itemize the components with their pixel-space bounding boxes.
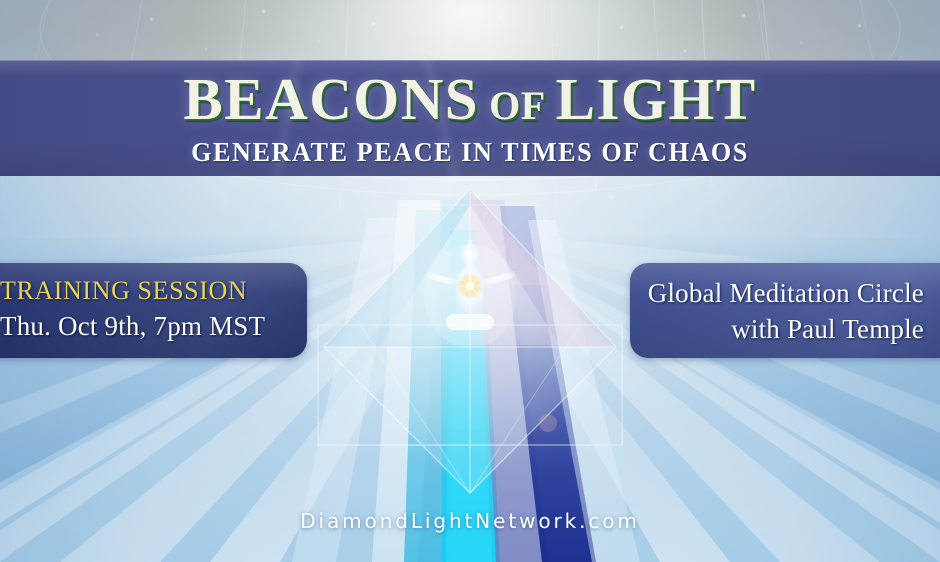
page-subtitle: GENERATE PEACE IN TIMES OF CHAOS: [14, 136, 926, 168]
training-session-badge: TRAINING SESSION Thu. Oct 9th, 7pm MST: [0, 263, 307, 358]
title-word-of: OF: [489, 83, 546, 128]
event-title-line: Global Meditation Circle: [648, 275, 924, 311]
poster-canvas: BEACONSOFLIGHT GENERATE PEACE IN TIMES O…: [0, 0, 940, 562]
event-host-line: with Paul Temple: [648, 311, 924, 347]
training-session-label: TRAINING SESSION: [0, 274, 287, 308]
title-word-light: LIGHT: [556, 66, 757, 132]
page-title: BEACONSOFLIGHT: [0, 64, 940, 141]
event-name-badge-lines: Global Meditation Circle with Paul Templ…: [648, 275, 924, 347]
training-session-datetime: Thu. Oct 9th, 7pm MST: [0, 308, 287, 344]
training-session-badge-lines: TRAINING SESSION Thu. Oct 9th, 7pm MST: [0, 274, 287, 344]
title-word-beacons: BEACONS: [183, 66, 479, 132]
title-banner: BEACONSOFLIGHT GENERATE PEACE IN TIMES O…: [0, 60, 940, 176]
website-url[interactable]: DiamondLightNetwork.com: [0, 508, 940, 534]
event-name-badge: Global Meditation Circle with Paul Templ…: [630, 263, 940, 358]
